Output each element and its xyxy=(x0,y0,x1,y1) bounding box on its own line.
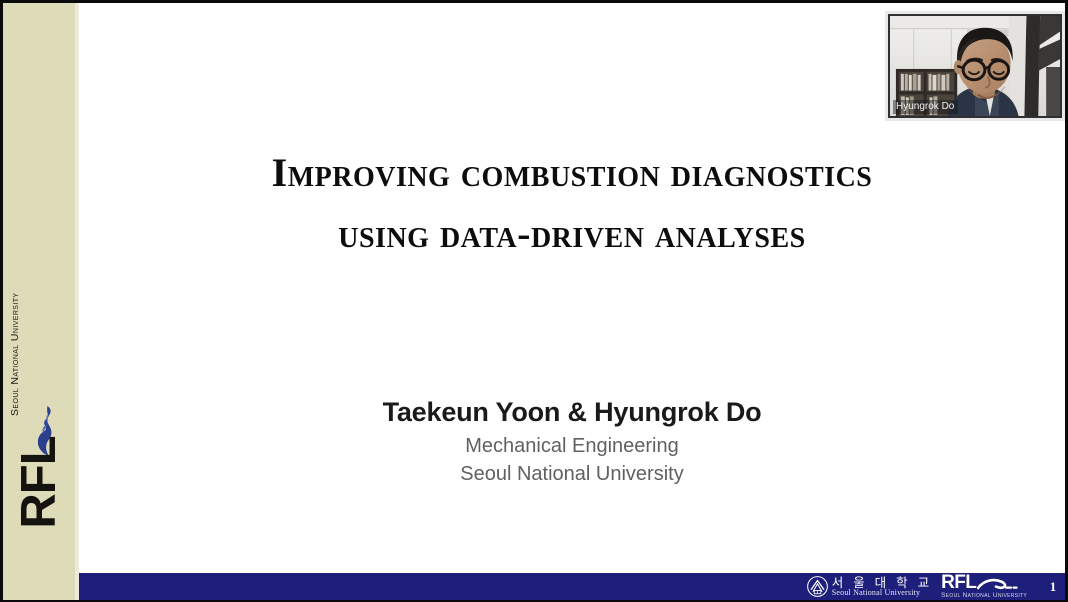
swoosh-icon xyxy=(977,578,1019,591)
page-number: 1 xyxy=(1041,579,1065,595)
slide-footer: 서 울 대 학 교 Seoul National University RFL … xyxy=(79,573,1065,600)
footer-rfl-logo: RFL Seoul National University xyxy=(941,573,1027,600)
title-line-1: Improving combustion diagnostics xyxy=(79,143,1065,204)
sidebar-rfl-logo: Seoul National University RFL xyxy=(3,396,75,571)
author-names: Taekeun Yoon & Hyungrok Do xyxy=(79,396,1065,430)
affiliation-line-1: Mechanical Engineering xyxy=(79,434,1065,458)
snu-wordmark: 서 울 대 학 교 Seoul National University xyxy=(832,576,932,598)
webcam-frame: Hyungrok Do xyxy=(888,14,1062,118)
slide-title: Improving combustion diagnostics using d… xyxy=(79,143,1065,265)
webcam-overlay[interactable]: Hyungrok Do xyxy=(885,11,1065,121)
affiliation-line-2: Seoul National University xyxy=(79,462,1065,486)
webcam-video-feed: Hyungrok Do xyxy=(890,16,1060,116)
footer-rfl-subtitle: Seoul National University xyxy=(941,592,1027,600)
sidebar-edge-strip xyxy=(75,3,79,600)
slide-sidebar: Seoul National University RFL xyxy=(3,3,75,600)
footer-logo-group: 서 울 대 학 교 Seoul National University RFL … xyxy=(807,573,1065,600)
footer-rfl-text: RFL xyxy=(941,573,976,592)
slide-authors-block: Taekeun Yoon & Hyungrok Do Mechanical En… xyxy=(79,396,1065,486)
sidebar-logo-text: RFL xyxy=(15,395,64,570)
presentation-screen: Seoul National University RFL Improving … xyxy=(0,0,1068,602)
snu-name-korean: 서 울 대 학 교 xyxy=(832,576,932,589)
title-line-2: using data-driven analyses xyxy=(79,204,1065,265)
webcam-participant-name: Hyungrok Do xyxy=(893,100,958,114)
sidebar-logo-subtitle: Seoul National University xyxy=(9,266,21,416)
snu-emblem-icon xyxy=(807,576,828,597)
snu-name-english: Seoul National University xyxy=(832,589,932,598)
